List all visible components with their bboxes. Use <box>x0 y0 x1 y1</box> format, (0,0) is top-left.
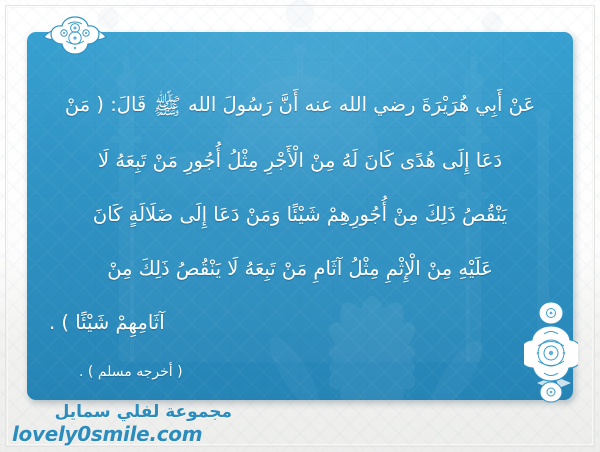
hadith-line-5: آثَامِهِمْ شَيْئًا ) . <box>49 296 551 350</box>
arabesque-corner-ornament <box>531 360 573 400</box>
hadith-card: عَنْ أَبِي هُرَيْرَةَ رضي الله عنه أَنَّ… <box>0 0 600 452</box>
logo-latin-text: lovely0smile.com <box>12 424 232 444</box>
logo-arabic-text: مجموعة لفلي سمايل <box>12 404 232 421</box>
hadith-line-4: عَلَيْهِ مِنْ الْإِثْمِ مِثْلُ آثَامِ مَ… <box>49 242 551 296</box>
hadith-text: عَنْ أَبِي هُرَيْرَةَ رضي الله عنه أَنَّ… <box>49 78 551 350</box>
hadith-line-2: دَعَا إِلَى هُدًى كَانَ لَهُ مِنْ الْأَج… <box>49 134 551 188</box>
hadith-line-1-after: قَالَ: ( مَنْ <box>65 93 146 116</box>
hadith-line-1: عَنْ أَبِي هُرَيْرَةَ رضي الله عنه أَنَّ… <box>49 78 551 134</box>
blue-content-panel: عَنْ أَبِي هُرَيْرَةَ رضي الله عنه أَنَّ… <box>27 32 573 400</box>
hadith-line-3: يَنْقُصُ ذَلِكَ مِنْ أُجُورِهِمْ شَيْئًا… <box>49 188 551 242</box>
site-logo[interactable]: مجموعة لفلي سمايل lovely0smile.com <box>12 404 232 448</box>
sallallahu-alayhi-wasallam-icon: ﷺ <box>153 80 181 134</box>
hadith-line-1-before: عَنْ أَبِي هُرَيْرَةَ رضي الله عنه أَنَّ… <box>188 93 535 116</box>
hadith-source-attribution: ( أخرجه مسلم ) . <box>79 364 183 380</box>
hadith-line-5-text: آثَامِهِمْ شَيْئًا ) . <box>49 311 165 334</box>
